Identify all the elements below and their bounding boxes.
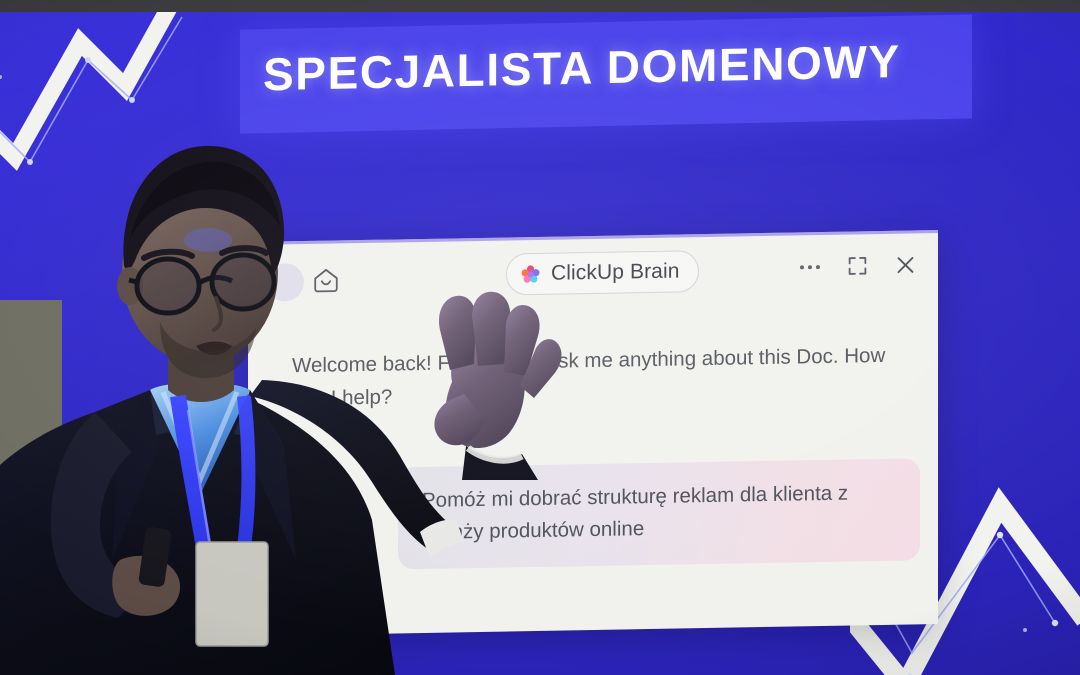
clickup-brain-flower-icon xyxy=(520,263,541,284)
wall-top-strip xyxy=(0,0,1080,12)
clickup-brain-pill[interactable]: ClickUp Brain xyxy=(506,250,699,295)
more-options-icon[interactable] xyxy=(800,265,820,269)
clickup-brain-label: ClickUp Brain xyxy=(551,259,680,285)
panel-action-bar xyxy=(800,254,916,277)
expand-arrows-icon[interactable] xyxy=(847,255,868,276)
close-x-icon[interactable] xyxy=(895,254,916,275)
screenshot-stage: SPECJALISTA DOMENOWY Click xyxy=(0,0,1080,675)
presenter-hand xyxy=(410,290,580,480)
